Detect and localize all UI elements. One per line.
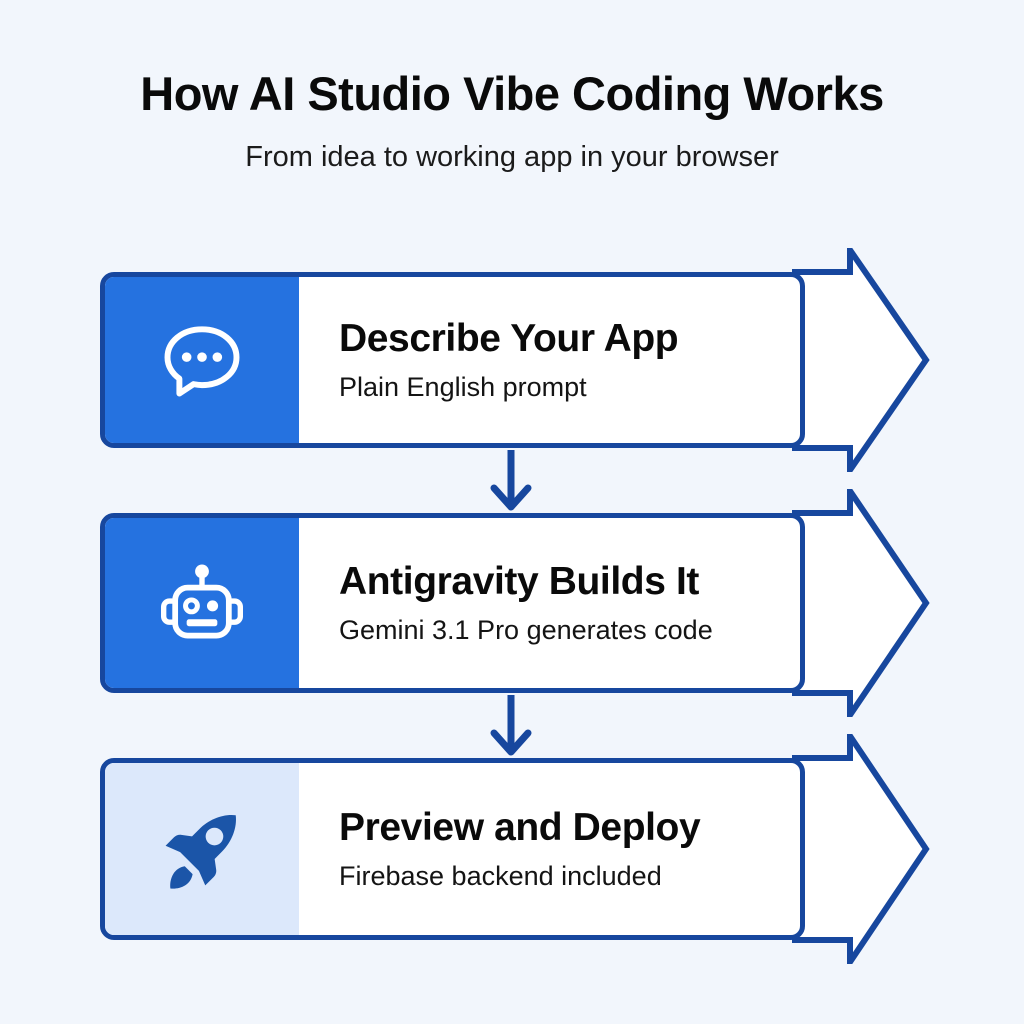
header: How AI Studio Vibe Coding Works From ide…: [0, 68, 1024, 174]
arrow-head-1: [790, 248, 930, 472]
arrow-body-3: Preview and Deploy Firebase backend incl…: [100, 758, 805, 940]
page-subtitle: From idea to working app in your browser: [0, 142, 1024, 174]
arrow-shape-1: Describe Your App Plain English prompt: [100, 272, 920, 448]
robot-icon: [156, 557, 248, 649]
arrow-head-3: [790, 734, 930, 964]
step-title-1: Describe Your App: [339, 317, 800, 361]
arrow-body-2: Antigravity Builds It Gemini 3.1 Pro gen…: [100, 513, 805, 693]
step-title-3: Preview and Deploy: [339, 806, 800, 850]
arrow-shape-2: Antigravity Builds It Gemini 3.1 Pro gen…: [100, 513, 920, 693]
connector-arrow-2: [480, 695, 542, 757]
step-row-2[interactable]: Antigravity Builds It Gemini 3.1 Pro gen…: [100, 513, 920, 693]
step-subtitle-2: Gemini 3.1 Pro generates code: [339, 615, 800, 646]
rocket-icon: [156, 803, 248, 895]
step-title-2: Antigravity Builds It: [339, 560, 800, 604]
step-row-1[interactable]: Describe Your App Plain English prompt: [100, 272, 920, 448]
connector-arrow-1: [480, 450, 542, 512]
arrow-shape-3: Preview and Deploy Firebase backend incl…: [100, 758, 920, 940]
arrow-body-1: Describe Your App Plain English prompt: [100, 272, 805, 448]
text-panel-3: Preview and Deploy Firebase backend incl…: [299, 763, 800, 935]
icon-panel-1: [105, 277, 299, 443]
arrow-head-2: [790, 489, 930, 717]
step-subtitle-1: Plain English prompt: [339, 372, 800, 403]
icon-panel-3: [105, 763, 299, 935]
text-panel-2: Antigravity Builds It Gemini 3.1 Pro gen…: [299, 518, 800, 688]
text-panel-1: Describe Your App Plain English prompt: [299, 277, 800, 443]
step-row-3[interactable]: Preview and Deploy Firebase backend incl…: [100, 758, 920, 940]
page-title: How AI Studio Vibe Coding Works: [0, 68, 1024, 120]
chat-bubble-icon: [156, 314, 248, 406]
icon-panel-2: [105, 518, 299, 688]
infographic-canvas: How AI Studio Vibe Coding Works From ide…: [0, 0, 1024, 1024]
step-subtitle-3: Firebase backend included: [339, 861, 800, 892]
